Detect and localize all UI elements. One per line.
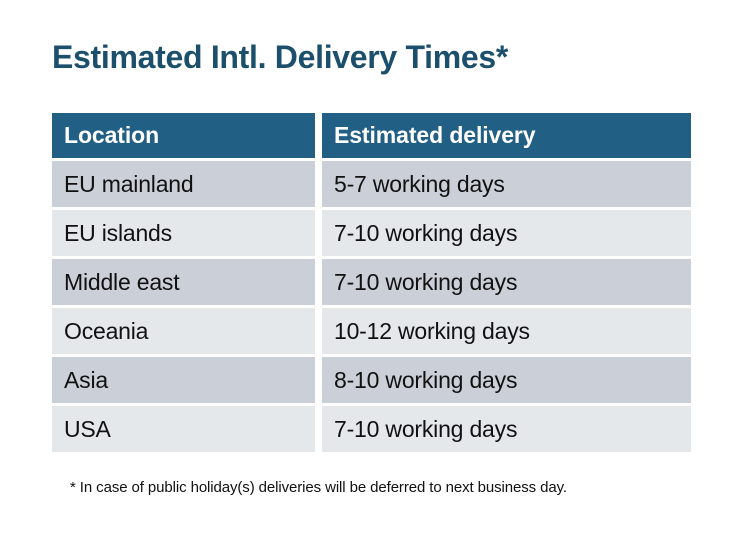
table-row: USA 7-10 working days (52, 406, 691, 452)
cell-estimated-delivery: 7-10 working days (322, 259, 691, 305)
cell-estimated-delivery: 7-10 working days (322, 406, 691, 452)
cell-location: EU islands (52, 210, 315, 256)
table-row: Asia 8-10 working days (52, 357, 691, 403)
page-title: Estimated Intl. Delivery Times* (52, 37, 508, 77)
delivery-times-table: Location Estimated delivery EU mainland … (52, 113, 691, 455)
page-canvas: Estimated Intl. Delivery Times* Location… (0, 0, 745, 536)
cell-estimated-delivery: 8-10 working days (322, 357, 691, 403)
cell-location: Asia (52, 357, 315, 403)
cell-location: EU mainland (52, 161, 315, 207)
table-row: EU islands 7-10 working days (52, 210, 691, 256)
cell-location: USA (52, 406, 315, 452)
column-header-estimated-delivery: Estimated delivery (322, 113, 691, 158)
cell-estimated-delivery: 7-10 working days (322, 210, 691, 256)
cell-location: Middle east (52, 259, 315, 305)
column-header-location: Location (52, 113, 315, 158)
cell-estimated-delivery: 5-7 working days (322, 161, 691, 207)
footnote-text: * In case of public holiday(s) deliverie… (70, 479, 567, 496)
table-row: Middle east 7-10 working days (52, 259, 691, 305)
table-header-row: Location Estimated delivery (52, 113, 691, 158)
table-row: EU mainland 5-7 working days (52, 161, 691, 207)
cell-location: Oceania (52, 308, 315, 354)
cell-estimated-delivery: 10-12 working days (322, 308, 691, 354)
table-row: Oceania 10-12 working days (52, 308, 691, 354)
